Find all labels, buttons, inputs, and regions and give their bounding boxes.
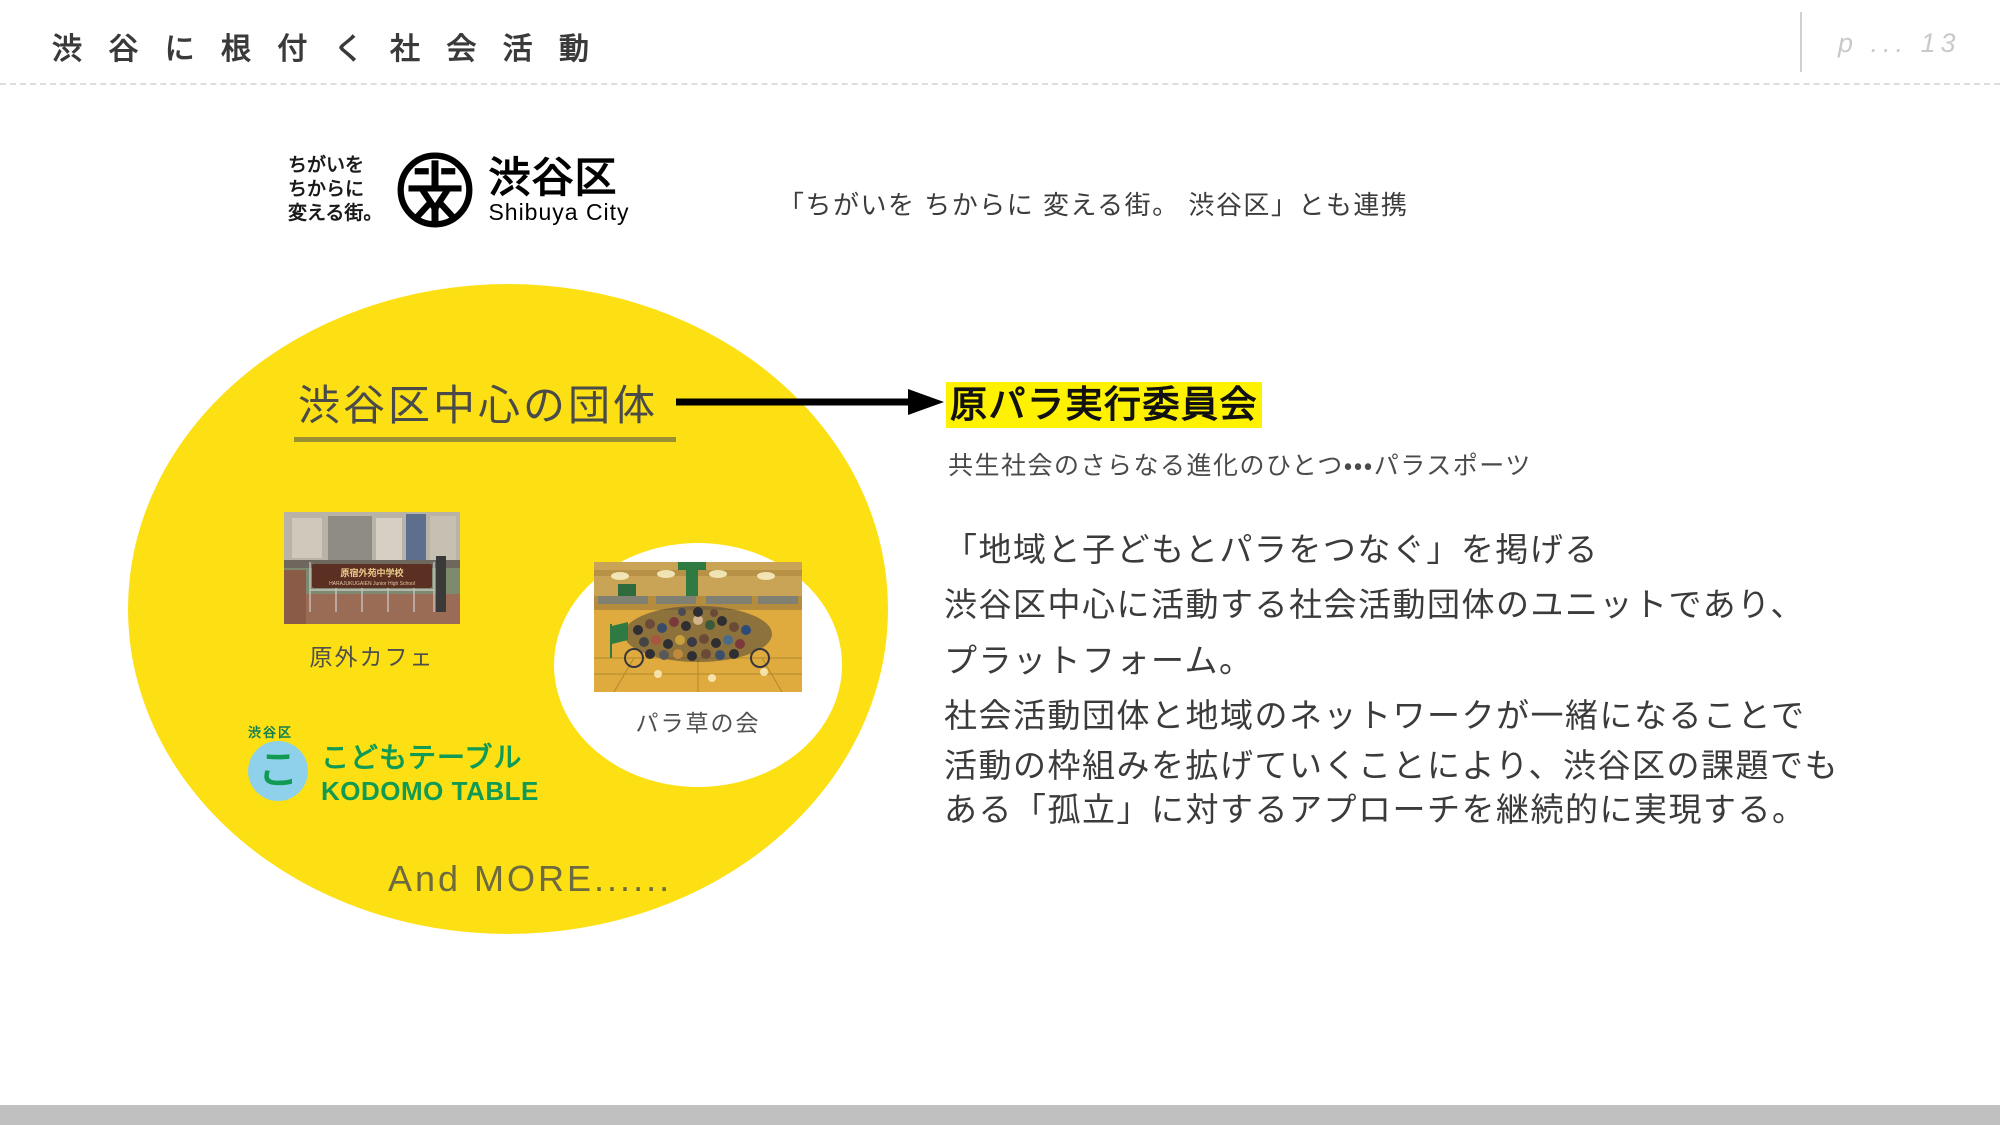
and-more-label: And MORE......	[388, 858, 672, 900]
shibuya-tagline-line-3: 変える街。	[288, 202, 382, 226]
shibuya-wordmark-ja: 渋谷区	[488, 157, 629, 199]
org-card-haragaicafe: 原宿外苑中学校 HARAJUKUGAIEN Junior High School…	[284, 512, 460, 672]
organizations-heading-underline	[294, 437, 676, 442]
slide-footer-bar	[0, 1105, 2000, 1125]
kodomo-table-logo: 渋谷区 こ こどもテーブル KODOMO TABLE	[248, 722, 488, 802]
photo-parakusa	[594, 562, 802, 692]
detail-body-line: 社会活動団体と地域のネットワークが一緒になることで	[944, 688, 1934, 743]
detail-body: 「地域と子どもとパラをつなぐ」を掲げる 渋谷区中心に活動する社会活動団体のユニッ…	[944, 522, 1934, 832]
org-label-haragaicafe: 原外カフェ	[284, 638, 460, 672]
header-dashed-rule	[0, 83, 2000, 85]
organizations-heading: 渋谷区中心の団体	[298, 372, 658, 433]
shibuya-wordmark-en: Shibuya City	[488, 201, 629, 224]
detail-body-line: ある「孤立」に対するアプローチを継続的に実現する。	[944, 788, 1934, 832]
connector-arrow-icon	[676, 385, 944, 419]
detail-body-line: 渋谷区中心に活動する社会活動団体のユニットであり、	[944, 577, 1934, 632]
org-label-parakusa: パラ草の会	[594, 704, 802, 738]
svg-text:原宿外苑中学校: 原宿外苑中学校	[340, 567, 404, 578]
kodomo-table-city-tag: 渋谷区	[248, 722, 293, 741]
shibuya-wordmark: 渋谷区 Shibuya City	[488, 157, 629, 224]
shibuya-city-emblem-icon	[396, 151, 474, 229]
kodomo-table-badge-glyph: こ	[258, 750, 298, 790]
slide-canvas: 渋 谷 に 根 付 く 社 会 活 動 p ... 13 ちがいを ちからに 変…	[0, 0, 2000, 1125]
kodomo-table-name-en: KODOMO TABLE	[321, 778, 539, 804]
org-card-parakusa: パラ草の会	[594, 562, 802, 738]
photo-haragaicafe-illustration: 原宿外苑中学校 HARAJUKUGAIEN Junior High School	[284, 512, 460, 624]
detail-subtitle: 共生社会のさらなる進化のひとつ・・・パラスポーツ	[948, 446, 1532, 482]
detail-body-line: 「地域と子どもとパラをつなぐ」を掲げる	[944, 522, 1934, 577]
detail-body-line: プラットフォーム。	[944, 633, 1934, 688]
page-title: 渋 谷 に 根 付 く 社 会 活 動	[52, 24, 598, 68]
shibuya-logo-tagline: ちがいを ちからに 変える街。	[288, 154, 382, 227]
detail-title-highlighted: 原パラ実行委員会	[946, 382, 1262, 428]
header-divider	[1800, 12, 1802, 72]
shibuya-tagline-line-2: ちからに	[288, 178, 382, 202]
detail-body-line: 活動の枠組みを拡げていくことにより、渋谷区の課題でも	[944, 744, 1934, 788]
slide-header: 渋 谷 に 根 付 く 社 会 活 動 p ... 13	[0, 0, 2000, 84]
shibuya-tagline-line-1: ちがいを	[288, 154, 382, 178]
photo-parakusa-illustration	[594, 562, 802, 692]
kodomo-table-name-ja: こどもテーブル	[321, 744, 522, 772]
page-number-indicator: p ... 13	[1838, 28, 1961, 59]
partner-note-text: 「ちがいを ちからに 変える街。 渋谷区」とも連携	[778, 185, 1408, 222]
photo-haragaicafe: 原宿外苑中学校 HARAJUKUGAIEN Junior High School	[284, 512, 460, 624]
shibuya-city-logo: ちがいを ちからに 変える街。 渋谷区 Shibuya City	[288, 148, 688, 232]
detail-title-wrap: 原パラ実行委員会	[946, 382, 1262, 428]
kodomo-table-badge-icon: こ	[248, 741, 308, 801]
svg-text:HARAJUKUGAIEN Junior High Scho: HARAJUKUGAIEN Junior High School	[329, 581, 415, 587]
